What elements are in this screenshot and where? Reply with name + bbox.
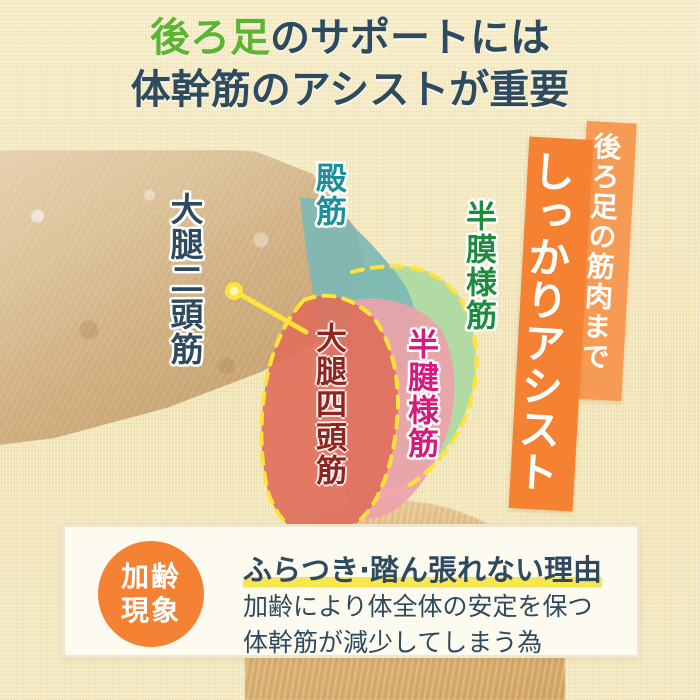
card-body-line-2: 体幹筋が減少してしまう為 xyxy=(243,625,593,661)
page-title: 後ろ足のサポートには 体幹筋のアシストが重要 xyxy=(0,12,700,116)
muscle-label-biceps-femoris: 大腿二頭筋 xyxy=(168,192,201,367)
page-title-highlight-green: 後ろ足 xyxy=(150,15,270,61)
card-body-text: 加齢により体全体の安定を保つ 体幹筋が減少してしまう為 xyxy=(243,589,593,660)
status-badge-line-2: 現象 xyxy=(121,594,181,628)
status-badge-aging: 加齢 現象 xyxy=(98,541,204,647)
muscle-label-semitendinosus: 半腱様筋 xyxy=(404,328,435,460)
infographic-root: 大腿二頭筋 殿筋 半膜様筋 半腱様筋 大腿四頭筋 後ろ足のサポートには 体幹筋の… xyxy=(0,0,700,700)
page-title-line-2: 体幹筋のアシストが重要 xyxy=(0,64,700,116)
muscle-label-semimembranosus: 半膜様筋 xyxy=(462,200,493,332)
card-heading: ふらつき·踏ん張れない理由 xyxy=(243,547,602,589)
card-body-line-1: 加齢により体全体の安定を保つ xyxy=(243,589,593,625)
page-title-line-1: 後ろ足のサポートには xyxy=(0,12,700,64)
muscle-label-gluteal: 殿筋 xyxy=(312,162,343,228)
page-title-line-1-rest: のサポートには xyxy=(270,15,550,61)
muscle-label-quadriceps: 大腿四頭筋 xyxy=(312,322,343,487)
leader-dot-biceps-femoris-core xyxy=(230,287,239,296)
aging-info-card: 加齢 現象 ふらつき·踏ん張れない理由 加齢により体全体の安定を保つ 体幹筋が減… xyxy=(62,524,640,658)
status-badge-line-1: 加齢 xyxy=(121,560,181,594)
